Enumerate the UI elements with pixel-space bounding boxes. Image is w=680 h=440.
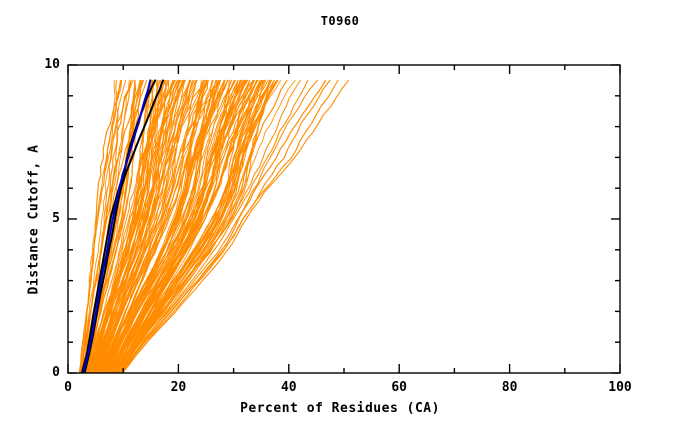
x-tick-label: 60 — [379, 380, 419, 395]
chart-figure: T0960 020406080100 0510 Percent of Resid… — [0, 0, 680, 440]
x-tick-label: 40 — [269, 380, 309, 395]
x-axis-label: Percent of Residues (CA) — [0, 401, 680, 416]
x-tick-label: 100 — [600, 380, 640, 395]
y-axis-label: Distance Cutoff, A — [27, 100, 42, 340]
y-tick-label: 10 — [30, 57, 60, 72]
plot-canvas — [0, 0, 680, 440]
x-tick-label: 80 — [490, 380, 530, 395]
x-tick-label: 20 — [158, 380, 198, 395]
x-tick-label: 0 — [48, 380, 88, 395]
curves-layer — [79, 80, 348, 373]
y-tick-label: 0 — [30, 365, 60, 380]
